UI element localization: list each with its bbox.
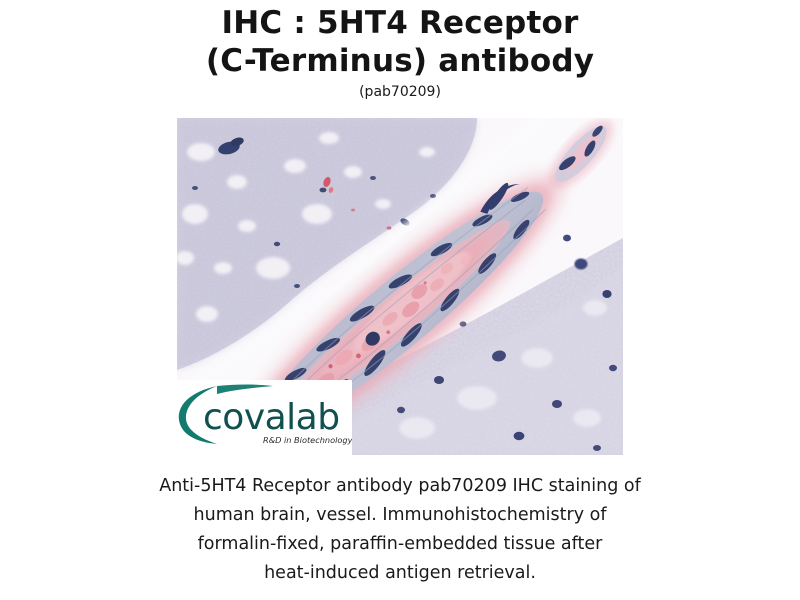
caption-line-4: heat-induced antigen retrieval. (70, 559, 730, 588)
title-line-2: (C-Terminus) antibody (0, 42, 800, 80)
covalab-logo: covalab R&D in Biotechnology (177, 380, 352, 455)
title-line-1: IHC : 5HT4 Receptor (0, 4, 800, 42)
logo-tagline: R&D in Biotechnology (263, 435, 352, 445)
figure-caption: Anti-5HT4 Receptor antibody pab70209 IHC… (70, 472, 730, 588)
logo-canvas: covalab R&D in Biotechnology (177, 380, 352, 455)
caption-line-3: formalin-fixed, paraffin-embedded tissue… (70, 530, 730, 559)
catalog-number: (pab70209) (0, 82, 800, 102)
swoosh-tail-icon (217, 385, 273, 395)
caption-line-1: Anti-5HT4 Receptor antibody pab70209 IHC… (70, 472, 730, 501)
logo-wordmark: covalab (203, 397, 340, 438)
caption-line-2: human brain, vessel. Immunohistochemistr… (70, 501, 730, 530)
page-title: IHC : 5HT4 Receptor (C-Terminus) antibod… (0, 4, 800, 102)
